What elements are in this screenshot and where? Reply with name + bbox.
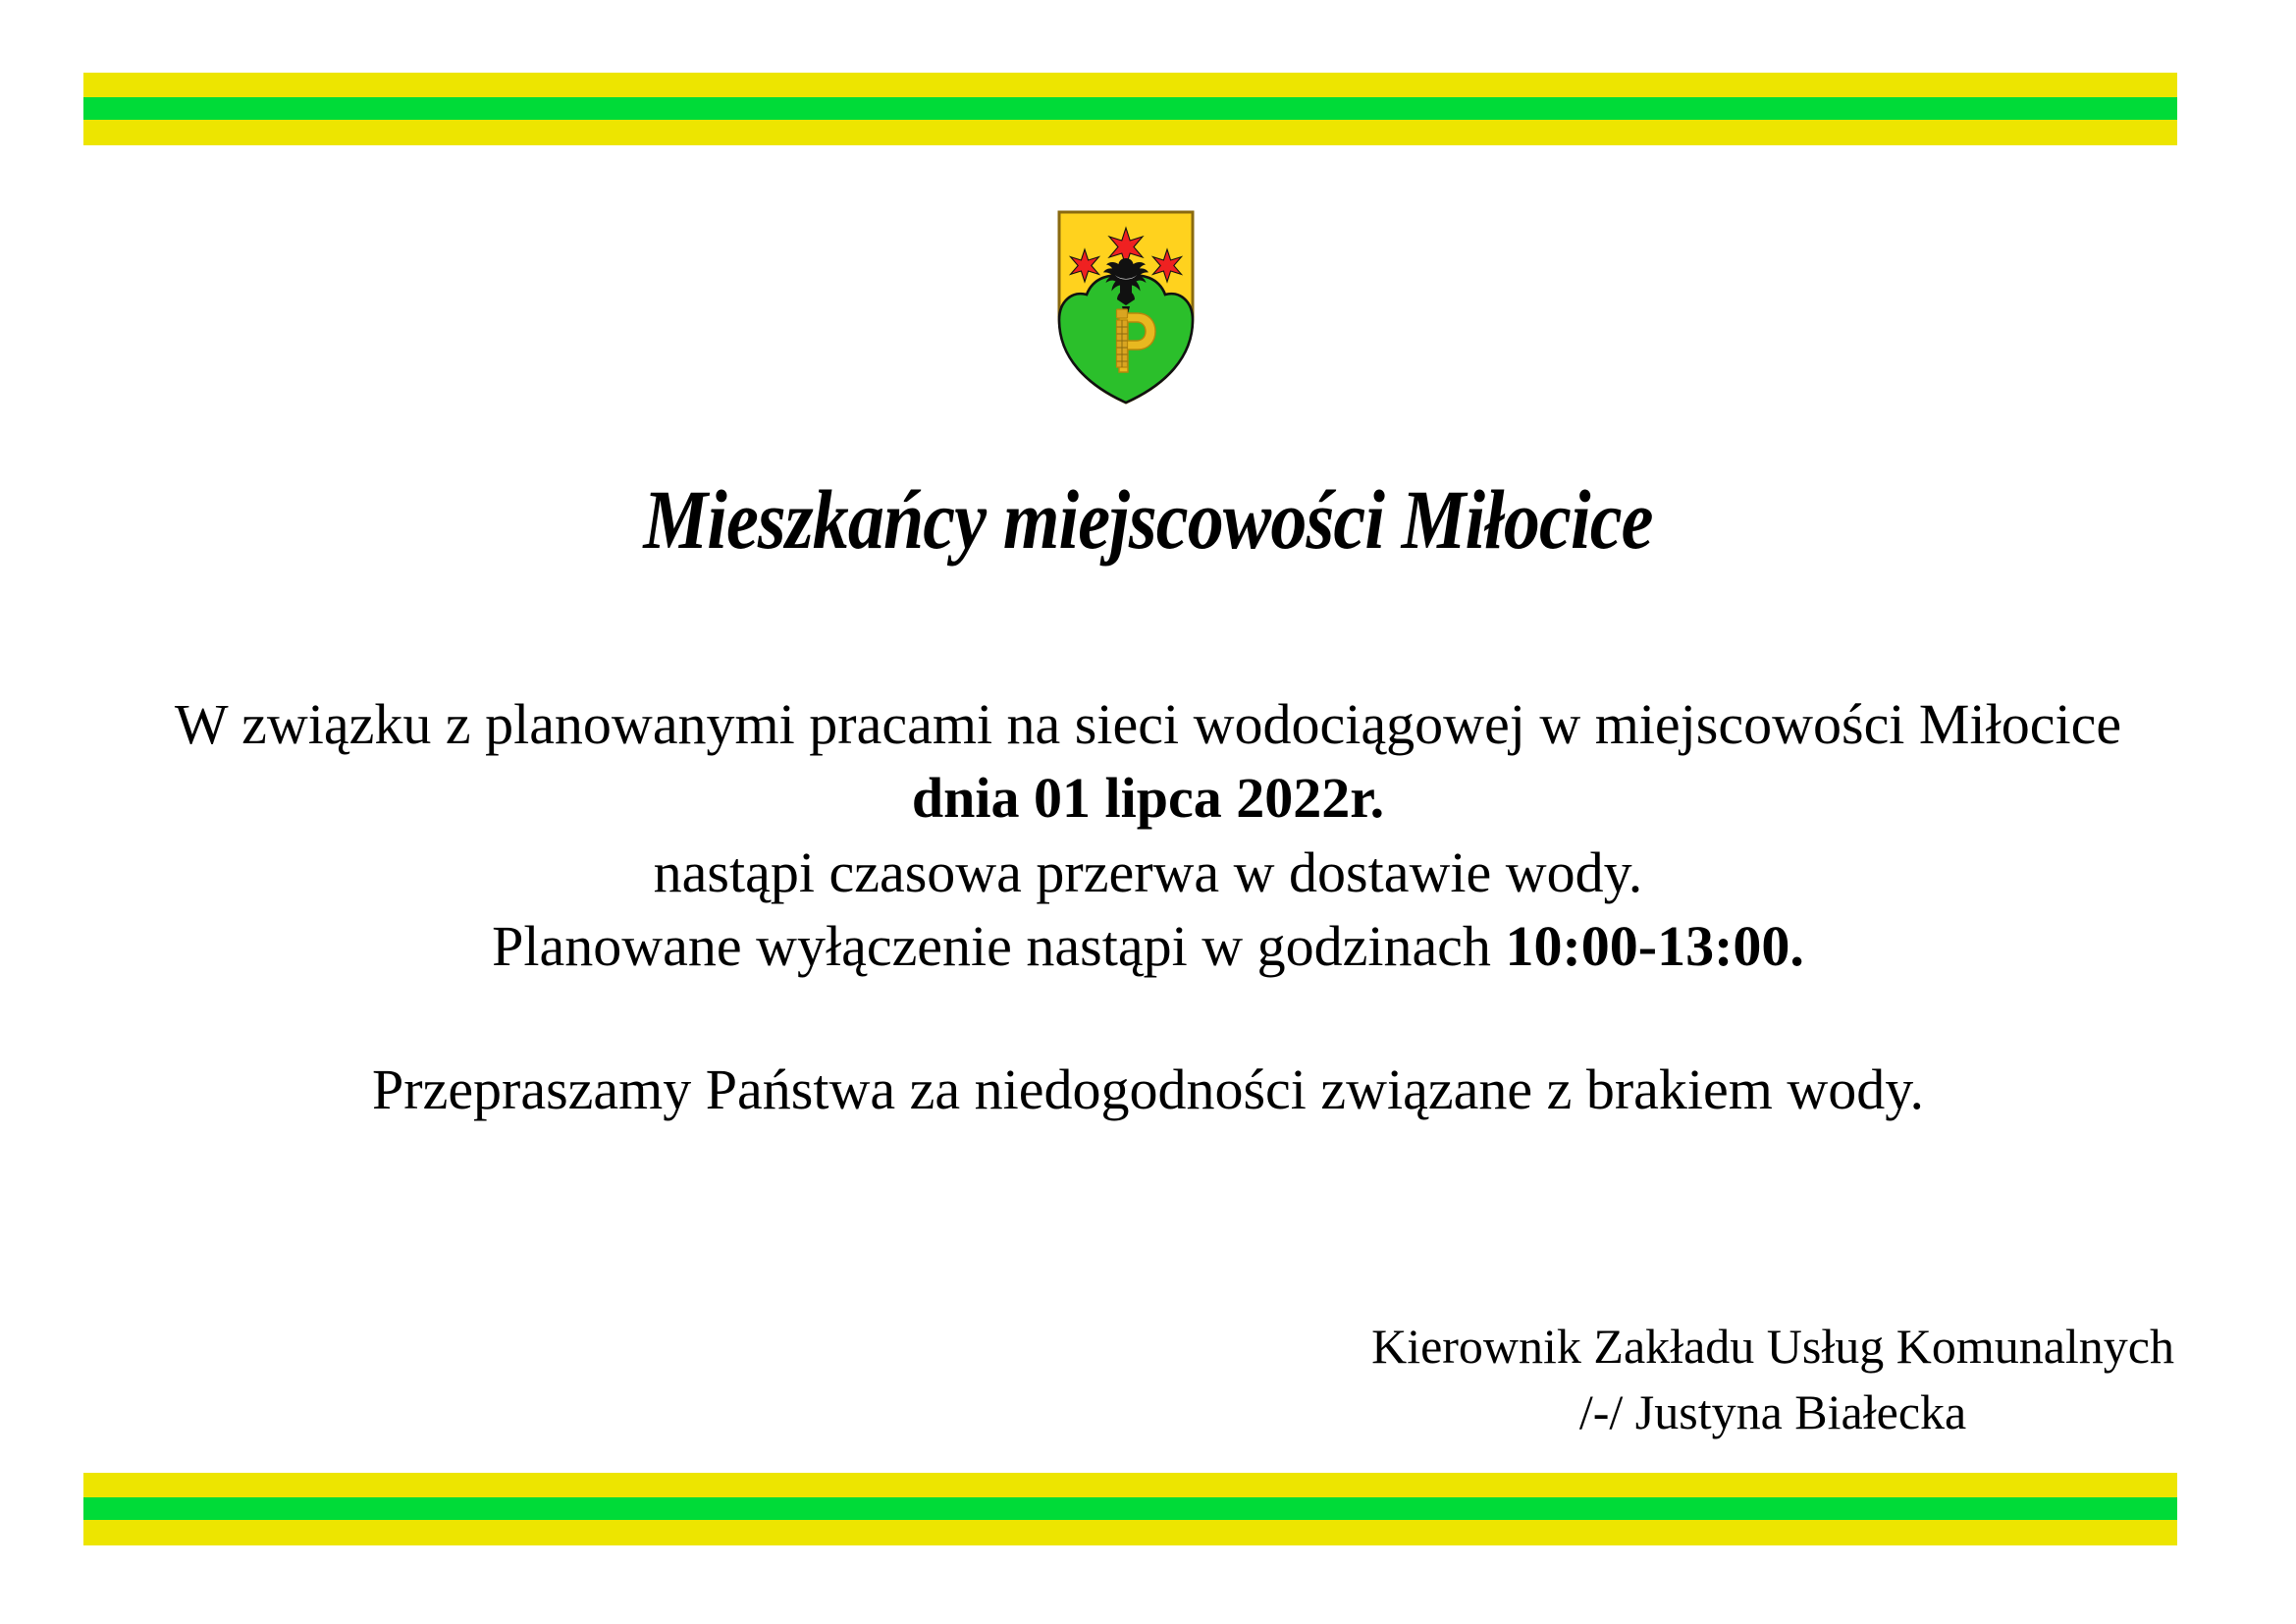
outage-date: dnia 01 lipca 2022r. [912, 766, 1384, 830]
hours-prefix: Planowane wyłączenie nastąpi w godzinach [492, 914, 1505, 978]
notice-page: Mieszkańcy miejscowości Miłocice W związ… [0, 0, 2296, 1624]
coat-of-arms-icon [1057, 210, 1195, 405]
outage-time-range: 10:00-13:00. [1505, 914, 1803, 978]
body-line-intro: W związku z planowanymi pracami na sieci… [0, 687, 2296, 761]
bottom-decorative-band [83, 1473, 2177, 1545]
body-line-interruption: nastąpi czasowa przerwa w dostawie wody. [0, 836, 2296, 909]
body-line-hours: Planowane wyłączenie nastąpi w godzinach… [0, 909, 2296, 983]
signature-name: /-/ Justyna Białecka [1371, 1380, 2174, 1445]
signature-block: Kierownik Zakładu Usług Komunalnych /-/ … [1371, 1314, 2174, 1445]
band-stripe-yellow-lower [83, 120, 2177, 145]
top-decorative-band [83, 73, 2177, 145]
band-stripe-green [83, 1497, 2177, 1520]
body-line-date: dnia 01 lipca 2022r. [0, 761, 2296, 835]
notice-body: W związku z planowanymi pracami na sieci… [0, 687, 2296, 984]
band-stripe-yellow-upper [83, 1473, 2177, 1497]
band-stripe-yellow-upper [83, 73, 2177, 97]
band-stripe-yellow-lower [83, 1520, 2177, 1545]
apology-text: Przepraszamy Państwa za niedogodności zw… [0, 1053, 2296, 1126]
band-stripe-green [83, 97, 2177, 120]
signature-role: Kierownik Zakładu Usług Komunalnych [1371, 1314, 2174, 1380]
notice-title: Mieszkańcy miejscowości Miłocice [161, 474, 2136, 566]
